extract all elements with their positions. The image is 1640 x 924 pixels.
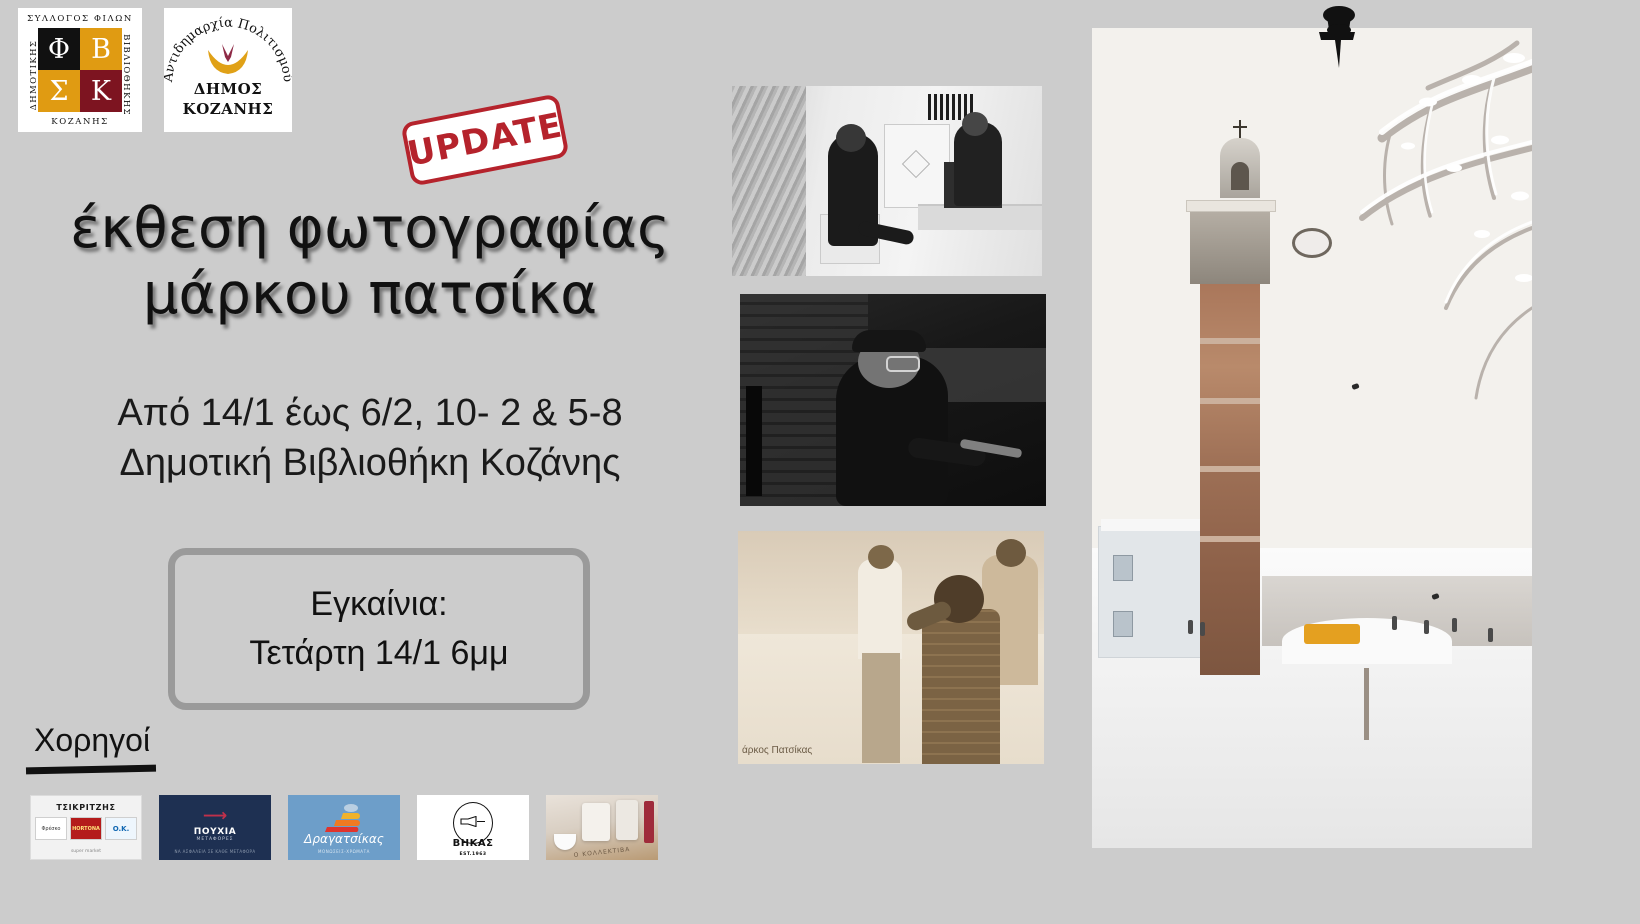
sponsors-underline <box>26 765 156 775</box>
sponsor-logo-pouxia: ⟶ ΠΟΥΧΙΑ ΜΕΤΑΦΟΡΕΣ ΝΑ ΑΣΦΑΛΕΙΑ ΣΕ ΚΑΘΕ Μ… <box>159 795 271 860</box>
opening-datetime: Τετάρτη 14/1 6μμ <box>249 629 508 678</box>
megaphone-icon <box>460 816 486 827</box>
tower-band-3 <box>1200 466 1260 472</box>
photo-2-dark-post <box>746 386 762 496</box>
snow-person-3 <box>1392 616 1397 630</box>
photo-2-craftsman-glasses <box>886 356 920 372</box>
photo-craftsman-working <box>740 294 1046 506</box>
municipality-line1: ΔΗΜΟΣ <box>164 80 292 98</box>
photo-3-right-person-head <box>996 539 1026 567</box>
snowy-branches <box>1232 28 1532 448</box>
sponsor-1-brand-3: O.K. <box>105 817 137 840</box>
photo-3-white-shirt-head <box>868 545 894 569</box>
tower-band-4 <box>1200 536 1260 542</box>
sponsor-1-brand-1: Φρέσκο <box>35 817 67 840</box>
photo-1-stone-wall <box>732 86 806 276</box>
subtitle-line-2: Δημοτική Βιβλιοθήκη Κοζάνης <box>40 438 700 488</box>
sponsor-1-name: ΤΣΙΚΡΙΤΖΗΣ <box>31 803 141 812</box>
update-stamp-label: UPDATE <box>404 105 566 174</box>
snow-person-1 <box>1188 620 1193 634</box>
library-friends-logo: ΣΥΛΛΟΓΟΣ ΦΙΛΩΝ ΔΗΜΟΤΙΚΗΣ ΒΙΒΛΙΟΘΗΚΗΣ Φ Β… <box>18 8 142 132</box>
sponsor-logo-dragatsikas: Δραγατσίκας ΜΟΝΩΣΕΙΣ-ΧΡΩΜΑΤΑ <box>288 795 400 860</box>
library-logo-bottom-text: ΚΟΖΑΝΗΣ <box>18 117 142 127</box>
sponsor-3-name: Δραγατσίκας <box>288 832 400 846</box>
coffee-cup-shape <box>554 834 576 850</box>
municipality-logo: Αντιδημαρχία Πολιτισμού ΔΗΜΟΣ ΚΟΖΑΝΗΣ <box>164 8 292 132</box>
sponsors-logo-row: ΤΣΙΚΡΙΤΖΗΣ Φρέσκο HORTONA O.K. super mar… <box>30 795 658 860</box>
opening-label: Εγκαίνια: <box>310 580 447 629</box>
photo-3-white-shirt-legs <box>862 653 900 763</box>
photo-1-left-head <box>836 124 866 152</box>
sponsor-3-sub: ΜΟΝΩΣΕΙΣ-ΧΡΩΜΑΤΑ <box>288 849 400 854</box>
paint-roller-icon <box>321 804 367 832</box>
sponsor-logo-tsikritzis: ΤΣΙΚΡΙΤΖΗΣ Φρέσκο HORTONA O.K. super mar… <box>30 795 142 860</box>
tulip-emblem-icon <box>204 42 252 76</box>
photo-3-plaid-jacket-man <box>922 609 1000 764</box>
truck-icon: ⟶ <box>203 806 227 826</box>
library-logo-letter-2: Β <box>80 28 122 70</box>
coffee-bag-b-shape <box>616 800 638 840</box>
sponsor-4-name: ΒΗΚΑΣ <box>417 838 529 849</box>
library-logo-letter-4: Κ <box>80 70 122 112</box>
sponsor-logo-kollektiva: Ο ΚΟΛΛΕΚΤΙΒΑ <box>546 795 658 860</box>
snow-building-window-2 <box>1113 611 1133 637</box>
snow-person-4 <box>1424 620 1429 634</box>
photo-3-content: άρκος Πατσίκας <box>738 531 1044 764</box>
snow-white-building <box>1098 526 1212 658</box>
snow-yellow-digger <box>1304 624 1360 644</box>
sponsor-4-sub: EST.1963 <box>417 852 529 857</box>
library-logo-letter-grid: Φ Β Σ Κ <box>38 28 122 112</box>
coffee-accent-shape <box>644 801 654 843</box>
title-line-1: έκθεση φωτογραφίας <box>70 196 670 261</box>
update-stamp: UPDATE <box>400 93 569 186</box>
library-logo-letter-1: Φ <box>38 28 80 70</box>
sponsor-2-sub: ΜΕΤΑΦΟΡΕΣ <box>159 837 271 842</box>
coffee-bag-a-shape <box>582 803 610 841</box>
sponsor-1-footer: super market <box>31 849 141 854</box>
event-details: Από 14/1 έως 6/2, 10- 2 & 5-8 Δημοτική Β… <box>40 388 700 488</box>
municipality-line2: ΚΟΖΑΝΗΣ <box>164 100 292 118</box>
library-logo-letter-3: Σ <box>38 70 80 112</box>
poster-canvas: ΣΥΛΛΟΓΟΣ ΦΙΛΩΝ ΔΗΜΟΤΙΚΗΣ ΒΙΒΛΙΟΘΗΚΗΣ Φ Β… <box>0 0 1640 924</box>
snow-person-6 <box>1488 628 1493 642</box>
photo-snowy-clock-tower <box>1092 28 1532 848</box>
photo-3-white-shirt-man <box>858 559 902 659</box>
library-logo-top-text: ΣΥΛΛΟΓΟΣ ΦΙΛΩΝ <box>18 14 142 24</box>
sponsor-2-footer: ΝΑ ΑΣΦΑΛΕΙΑ ΣΕ ΚΑΘΕ ΜΕΤΑΦΟΡΑ <box>159 849 271 854</box>
photo-1-content <box>732 86 1042 276</box>
sponsor-1-brand-2: HORTONA <box>70 817 102 840</box>
photo-two-seated-figures <box>732 86 1042 276</box>
opening-info-box: Εγκαίνια: Τετάρτη 14/1 6μμ <box>168 548 590 710</box>
sponsor-2-name: ΠΟΥΧΙΑ <box>159 827 271 837</box>
photo-2-craftsman-cap <box>852 330 926 352</box>
title-line-2: μάρκου πατσίκα <box>40 262 700 328</box>
update-stamp-frame: UPDATE <box>400 93 569 186</box>
snow-building-window-1 <box>1113 555 1133 581</box>
snow-pole <box>1364 668 1369 740</box>
organizer-logos: ΣΥΛΛΟΓΟΣ ΦΙΛΩΝ ΔΗΜΟΤΙΚΗΣ ΒΙΒΛΙΟΘΗΚΗΣ Φ Β… <box>18 8 292 132</box>
photo-3-caption: άρκος Πατσίκας <box>742 745 812 756</box>
subtitle-line-1: Από 14/1 έως 6/2, 10- 2 & 5-8 <box>117 392 622 434</box>
sponsor-logo-vikas: ΒΗΚΑΣ EST.1963 <box>417 795 529 860</box>
sponsors-heading: Χορηγοί <box>34 722 150 759</box>
snow-building-roof <box>1101 519 1209 531</box>
photo-1-right-head <box>962 112 988 136</box>
library-logo-right-text: ΒΙΒΛΙΟΘΗΚΗΣ <box>121 25 131 125</box>
page-title: έκθεση φωτογραφίας μάρκου πατσίκα <box>40 196 700 328</box>
sponsor-1-brands: Φρέσκο HORTONA O.K. <box>35 817 137 840</box>
pushpin-icon <box>1305 4 1361 70</box>
snow-person-2 <box>1200 622 1205 636</box>
photo-street-crowd: άρκος Πατσίκας <box>738 531 1044 764</box>
snow-person-5 <box>1452 618 1457 632</box>
photo-2-content <box>740 294 1046 506</box>
